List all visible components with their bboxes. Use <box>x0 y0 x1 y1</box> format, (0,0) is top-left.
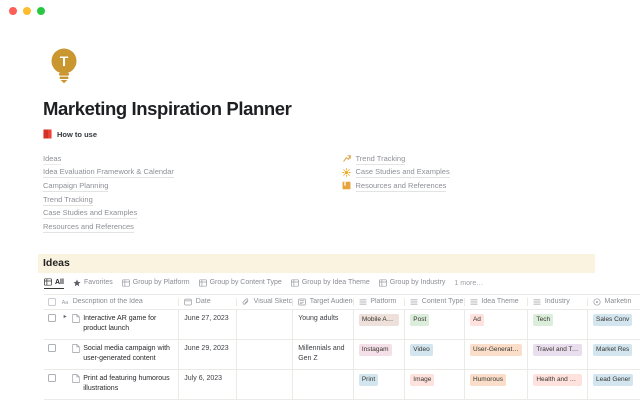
nav-link-label: Case Studies and Examples <box>356 166 450 178</box>
paperclip-icon <box>242 298 250 306</box>
tag: Health and Well… <box>533 374 582 386</box>
cell-date[interactable]: June 27, 2023 <box>179 310 237 339</box>
cell-text: June 27, 2023 <box>184 314 228 325</box>
nav-link-case-studies-and-examples[interactable]: Case Studies and Examples <box>43 206 342 220</box>
tag: Market Res <box>593 344 632 356</box>
nav-link-label: Trend Tracking <box>43 194 93 206</box>
nav-link-label: Trend Tracking <box>356 153 406 165</box>
checkbox-icon[interactable] <box>48 298 56 306</box>
list-icon <box>533 298 541 306</box>
tab-label: Group by Content Type <box>210 279 282 286</box>
cell-text: Young adults <box>298 314 338 325</box>
table-icon <box>379 279 387 287</box>
cell-platform[interactable]: Instagam <box>354 340 405 369</box>
cell-visual-sketch[interactable] <box>237 370 293 399</box>
row-checkbox-cell[interactable] <box>44 310 56 339</box>
cell-text: Millennials and Gen Z <box>298 344 348 365</box>
ideas-table: Aa Description of the Idea Date <box>44 294 640 400</box>
table-row[interactable]: Social media campaign with user-generate… <box>44 340 640 370</box>
page-title: Marketing Inspiration Planner <box>43 98 640 120</box>
page-icon <box>72 314 80 323</box>
sparkle-icon <box>342 168 351 177</box>
list-icon <box>410 298 418 306</box>
cell-target-audience[interactable]: Millennials and Gen Z <box>293 340 354 369</box>
nav-links-right: Trend Tracking Case Studies and Examples <box>342 152 640 234</box>
database-view-tabs: All Favorites Group by Platform Group by… <box>44 277 640 291</box>
list-icon <box>359 298 367 306</box>
chart-up-arrow-icon <box>342 154 351 163</box>
column-header-content-type[interactable]: Content Type <box>405 298 465 306</box>
column-header-platform[interactable]: Platform <box>354 298 405 306</box>
row-checkbox-cell[interactable] <box>44 340 56 369</box>
column-header-label: Target Audience <box>310 298 354 305</box>
how-to-use-link[interactable]: How to use <box>43 129 640 139</box>
checkbox-icon[interactable] <box>48 344 56 352</box>
nav-link-label: Campaign Planning <box>43 180 108 192</box>
cell-industry[interactable]: Travel and Touri… <box>528 340 588 369</box>
cell-industry[interactable]: Tech <box>528 310 588 339</box>
cell-text: Interactive AR game for product launch <box>83 314 173 335</box>
target-circle-icon <box>593 298 601 306</box>
nav-link-case-studies-and-examples-right[interactable]: Case Studies and Examples <box>342 166 640 180</box>
column-header-visual-sketch[interactable]: Visual Sketch <box>237 298 293 306</box>
cell-content-type[interactable]: Image <box>405 370 465 399</box>
cell-idea-theme[interactable]: Ad <box>465 310 528 339</box>
column-header-label: Date <box>196 298 211 305</box>
tag: Post <box>410 314 429 326</box>
calendar-icon <box>184 298 192 306</box>
star-icon <box>73 279 81 287</box>
text-lines-icon <box>298 298 306 306</box>
checkbox-icon[interactable] <box>48 314 56 322</box>
cell-date[interactable]: July 6, 2023 <box>179 370 237 399</box>
tag: Humorous <box>470 374 506 386</box>
cell-industry[interactable]: Health and Well… <box>528 370 588 399</box>
cell-text: Social media campaign with user-generate… <box>83 344 173 365</box>
table-icon <box>291 279 299 287</box>
column-header-label: Content Type <box>422 298 464 305</box>
tag: Tech <box>533 314 553 326</box>
red-book-icon <box>43 129 52 139</box>
text-aa-icon: Aa <box>61 298 69 306</box>
column-header-label: Idea Theme <box>481 298 518 305</box>
tag: Travel and Touri… <box>533 344 582 356</box>
nav-link-ideas[interactable]: Ideas <box>43 152 342 166</box>
lightbulb-icon: T <box>47 46 81 84</box>
table-icon <box>122 279 130 287</box>
ideas-section-banner: Ideas <box>38 254 595 273</box>
checkbox-icon[interactable] <box>48 374 56 382</box>
orange-book-icon <box>342 181 351 190</box>
cell-text: July 6, 2023 <box>184 374 222 385</box>
tab-label: Group by Industry <box>390 279 446 286</box>
cell-target-audience[interactable]: Young adults <box>293 310 354 339</box>
cell-visual-sketch[interactable] <box>237 310 293 339</box>
nav-link-label: Resources and References <box>356 180 447 192</box>
cell-idea-theme[interactable]: Humorous <box>465 370 528 399</box>
column-header-label: Industry <box>545 298 570 305</box>
tag: Sales Conv <box>593 314 632 326</box>
table-icon <box>44 278 52 286</box>
cell-platform[interactable]: Print <box>354 370 405 399</box>
nav-link-label: Idea Evaluation Framework & Calendar <box>43 166 174 178</box>
page-icon <box>72 344 80 353</box>
expand-row-icon[interactable]: ▸ <box>61 314 69 320</box>
table-header-row: Aa Description of the Idea Date <box>44 295 640 310</box>
close-window-button[interactable] <box>9 7 17 15</box>
tab-group-by-content-type[interactable]: Group by Content Type <box>199 279 282 289</box>
tag: Print <box>359 374 378 386</box>
cell-marketing[interactable]: Market Res <box>588 340 640 369</box>
page-content: T Marketing Inspiration Planner How to u… <box>0 22 640 400</box>
tag: Lead Gener <box>593 374 633 386</box>
nav-link-label: Resources and References <box>43 221 134 233</box>
tag: Mobile Ap… <box>359 314 399 326</box>
ideas-section-title: Ideas <box>43 257 70 269</box>
cell-description[interactable]: Social media campaign with user-generate… <box>56 340 179 369</box>
nav-link-idea-evaluation-framework-calendar[interactable]: Idea Evaluation Framework & Calendar <box>43 166 342 180</box>
list-icon <box>470 298 478 306</box>
cell-marketing[interactable]: Sales Conv <box>588 310 640 339</box>
cell-description[interactable]: ▸ Interactive AR game for product launch <box>56 310 179 339</box>
tab-all[interactable]: All <box>44 278 64 289</box>
nav-links-left: Ideas Idea Evaluation Framework & Calend… <box>43 152 342 234</box>
row-checkbox-cell[interactable] <box>44 370 56 399</box>
minimize-window-button[interactable] <box>23 7 31 15</box>
column-header-idea-theme[interactable]: Idea Theme <box>465 298 528 306</box>
cell-description[interactable]: Print ad featuring humorous illustration… <box>56 370 179 399</box>
how-to-use-label: How to use <box>57 130 97 139</box>
svg-text:Aa: Aa <box>62 300 69 306</box>
column-header-industry[interactable]: Industry <box>528 298 588 306</box>
nav-link-resources-and-references[interactable]: Resources and References <box>43 220 342 234</box>
nav-links: Ideas Idea Evaluation Framework & Calend… <box>0 152 640 234</box>
cell-target-audience[interactable] <box>293 370 354 399</box>
tag: User-Generated … <box>470 344 522 356</box>
cell-text: Print ad featuring humorous illustration… <box>83 374 173 395</box>
tab-group-by-idea-theme[interactable]: Group by Idea Theme <box>291 279 370 289</box>
tab-label: Group by Idea Theme <box>302 279 370 286</box>
header-select-all[interactable] <box>44 298 56 306</box>
cell-platform[interactable]: Mobile Ap… <box>354 310 405 339</box>
column-header-marketing[interactable]: Marketin <box>588 298 640 306</box>
column-header-description[interactable]: Aa Description of the Idea <box>56 298 179 306</box>
more-views-link[interactable]: 1 more… <box>454 280 483 287</box>
nav-link-resources-and-references-right[interactable]: Resources and References <box>342 179 640 193</box>
cell-text: June 29, 2023 <box>184 344 228 355</box>
tag: Instagam <box>359 344 392 356</box>
table-row[interactable]: Print ad featuring humorous illustration… <box>44 370 640 400</box>
nav-link-trend-tracking-right[interactable]: Trend Tracking <box>342 152 640 166</box>
cell-content-type[interactable]: Video <box>405 340 465 369</box>
table-row[interactable]: ▸ Interactive AR game for product launch… <box>44 310 640 340</box>
tab-group-by-platform[interactable]: Group by Platform <box>122 279 190 289</box>
column-header-label: Platform <box>370 298 396 305</box>
tag: Image <box>410 374 434 386</box>
column-header-label: Description of the Idea <box>73 298 143 305</box>
cell-idea-theme[interactable]: User-Generated … <box>465 340 528 369</box>
nav-link-trend-tracking[interactable]: Trend Tracking <box>43 193 342 207</box>
nav-link-label: Case Studies and Examples <box>43 207 137 219</box>
tag: Ad <box>470 314 484 326</box>
cell-date[interactable]: June 29, 2023 <box>179 340 237 369</box>
page-icon-wrap: T <box>0 46 640 84</box>
window-titlebar <box>0 0 640 22</box>
nav-link-label: Ideas <box>43 153 61 165</box>
svg-text:T: T <box>60 53 69 69</box>
cell-marketing[interactable]: Lead Gener <box>588 370 640 399</box>
tab-label: All <box>55 279 64 286</box>
column-header-label: Visual Sketch <box>254 298 294 305</box>
nav-link-campaign-planning[interactable]: Campaign Planning <box>43 179 342 193</box>
page-icon <box>72 374 80 383</box>
tab-group-by-industry[interactable]: Group by Industry <box>379 279 446 289</box>
cell-content-type[interactable]: Post <box>405 310 465 339</box>
tab-label: Group by Platform <box>133 279 190 286</box>
cell-visual-sketch[interactable] <box>237 340 293 369</box>
zoom-window-button[interactable] <box>37 7 45 15</box>
tag: Video <box>410 344 433 356</box>
tab-favorites[interactable]: Favorites <box>73 279 113 289</box>
table-icon <box>199 279 207 287</box>
tab-label: Favorites <box>84 279 113 286</box>
column-header-target-audience[interactable]: Target Audience <box>293 298 354 306</box>
column-header-date[interactable]: Date <box>179 298 237 306</box>
column-header-label: Marketin <box>605 298 632 305</box>
